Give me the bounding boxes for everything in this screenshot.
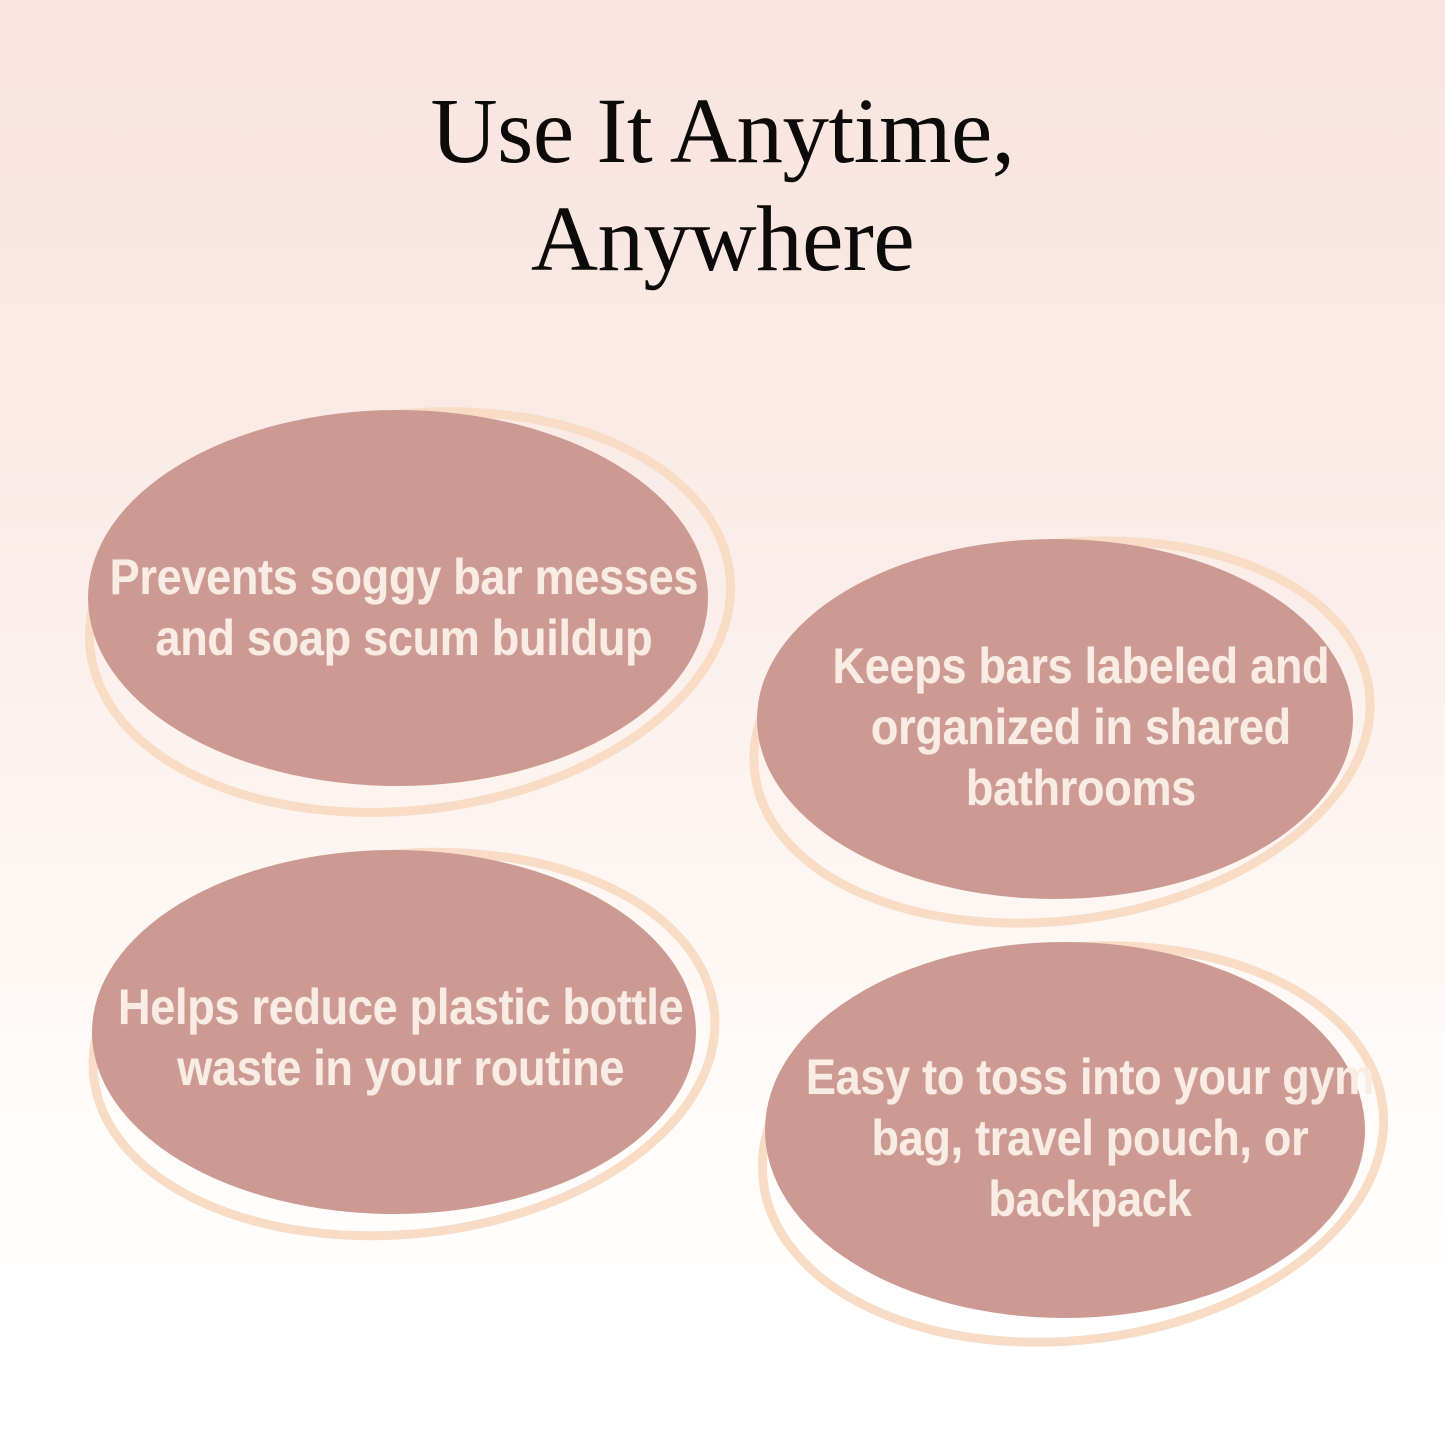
page-title-line-2: Anywhere — [0, 186, 1445, 294]
oval-fill — [92, 850, 696, 1214]
infographic-canvas: Use It Anytime, Anywhere Prevents soggy … — [0, 0, 1445, 1445]
oval-fill — [765, 942, 1365, 1318]
benefit-oval-labeled-organized: Keeps bars labeled and organized in shar… — [730, 527, 1390, 927]
benefit-oval-plastic-waste: Helps reduce plastic bottle waste in you… — [60, 838, 740, 1238]
benefit-oval-soggy-bar: Prevents soggy bar messes and soap scum … — [58, 398, 748, 818]
page-title-line-1: Use It Anytime, — [0, 78, 1445, 186]
page-title: Use It Anytime, Anywhere — [0, 78, 1445, 294]
oval-fill — [88, 410, 708, 786]
oval-fill — [757, 539, 1353, 899]
benefit-oval-portable: Easy to toss into your gym bag, travel p… — [733, 928, 1405, 1348]
